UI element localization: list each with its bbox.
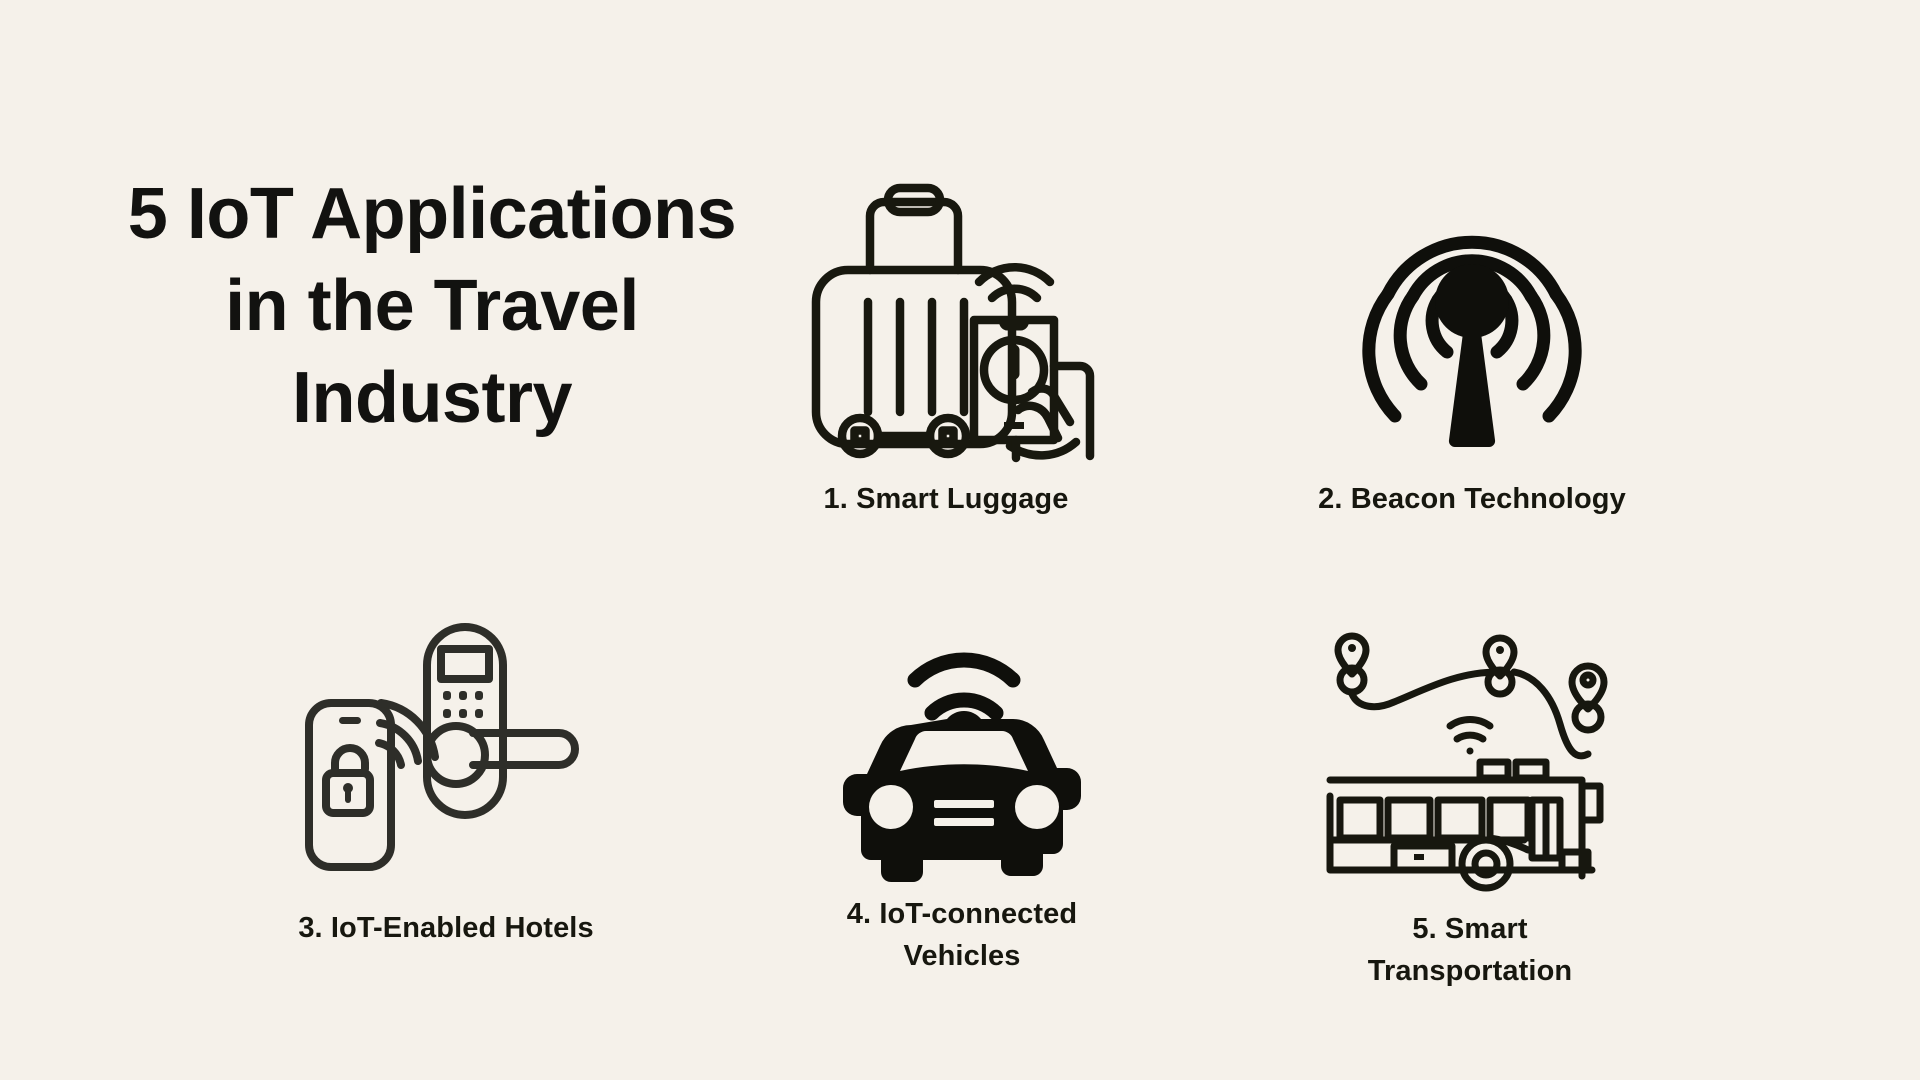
iot-hotel-lock-icon: [301, 585, 591, 875]
item-smart-transportation: 5. Smart Transportation: [1300, 600, 1640, 992]
map-pin-right: [1572, 666, 1604, 730]
map-pin-left: [1338, 636, 1366, 692]
beacon-tower-icon: [1337, 168, 1607, 458]
item-iot-connected-vehicles: 4. IoT-connected Vehicles: [802, 585, 1122, 977]
infographic-canvas: 5 IoT Applications in the Travel Industr…: [0, 0, 1920, 1080]
item-label-iot-enabled-hotels: 3. IoT-Enabled Hotels: [298, 907, 593, 949]
item-beacon-technology: 2. Beacon Technology: [1262, 168, 1682, 520]
item-label-beacon-technology: 2. Beacon Technology: [1318, 478, 1626, 520]
item-label-iot-connected-vehicles: 4. IoT-connected Vehicles: [847, 893, 1077, 977]
item-smart-luggage: 1. Smart Luggage: [776, 168, 1116, 520]
map-pin-middle: [1486, 638, 1514, 694]
item-label-smart-luggage: 1. Smart Luggage: [824, 478, 1069, 520]
wifi-arcs: [1450, 719, 1490, 754]
smart-transportation-icon: [1320, 600, 1620, 890]
item-label-smart-transportation: 5. Smart Transportation: [1368, 908, 1572, 992]
connected-car-icon: [837, 585, 1087, 875]
smart-luggage-icon: [796, 168, 1096, 458]
page-title: 5 IoT Applications in the Travel Industr…: [96, 168, 768, 444]
item-iot-enabled-hotels: 3. IoT-Enabled Hotels: [236, 585, 656, 949]
